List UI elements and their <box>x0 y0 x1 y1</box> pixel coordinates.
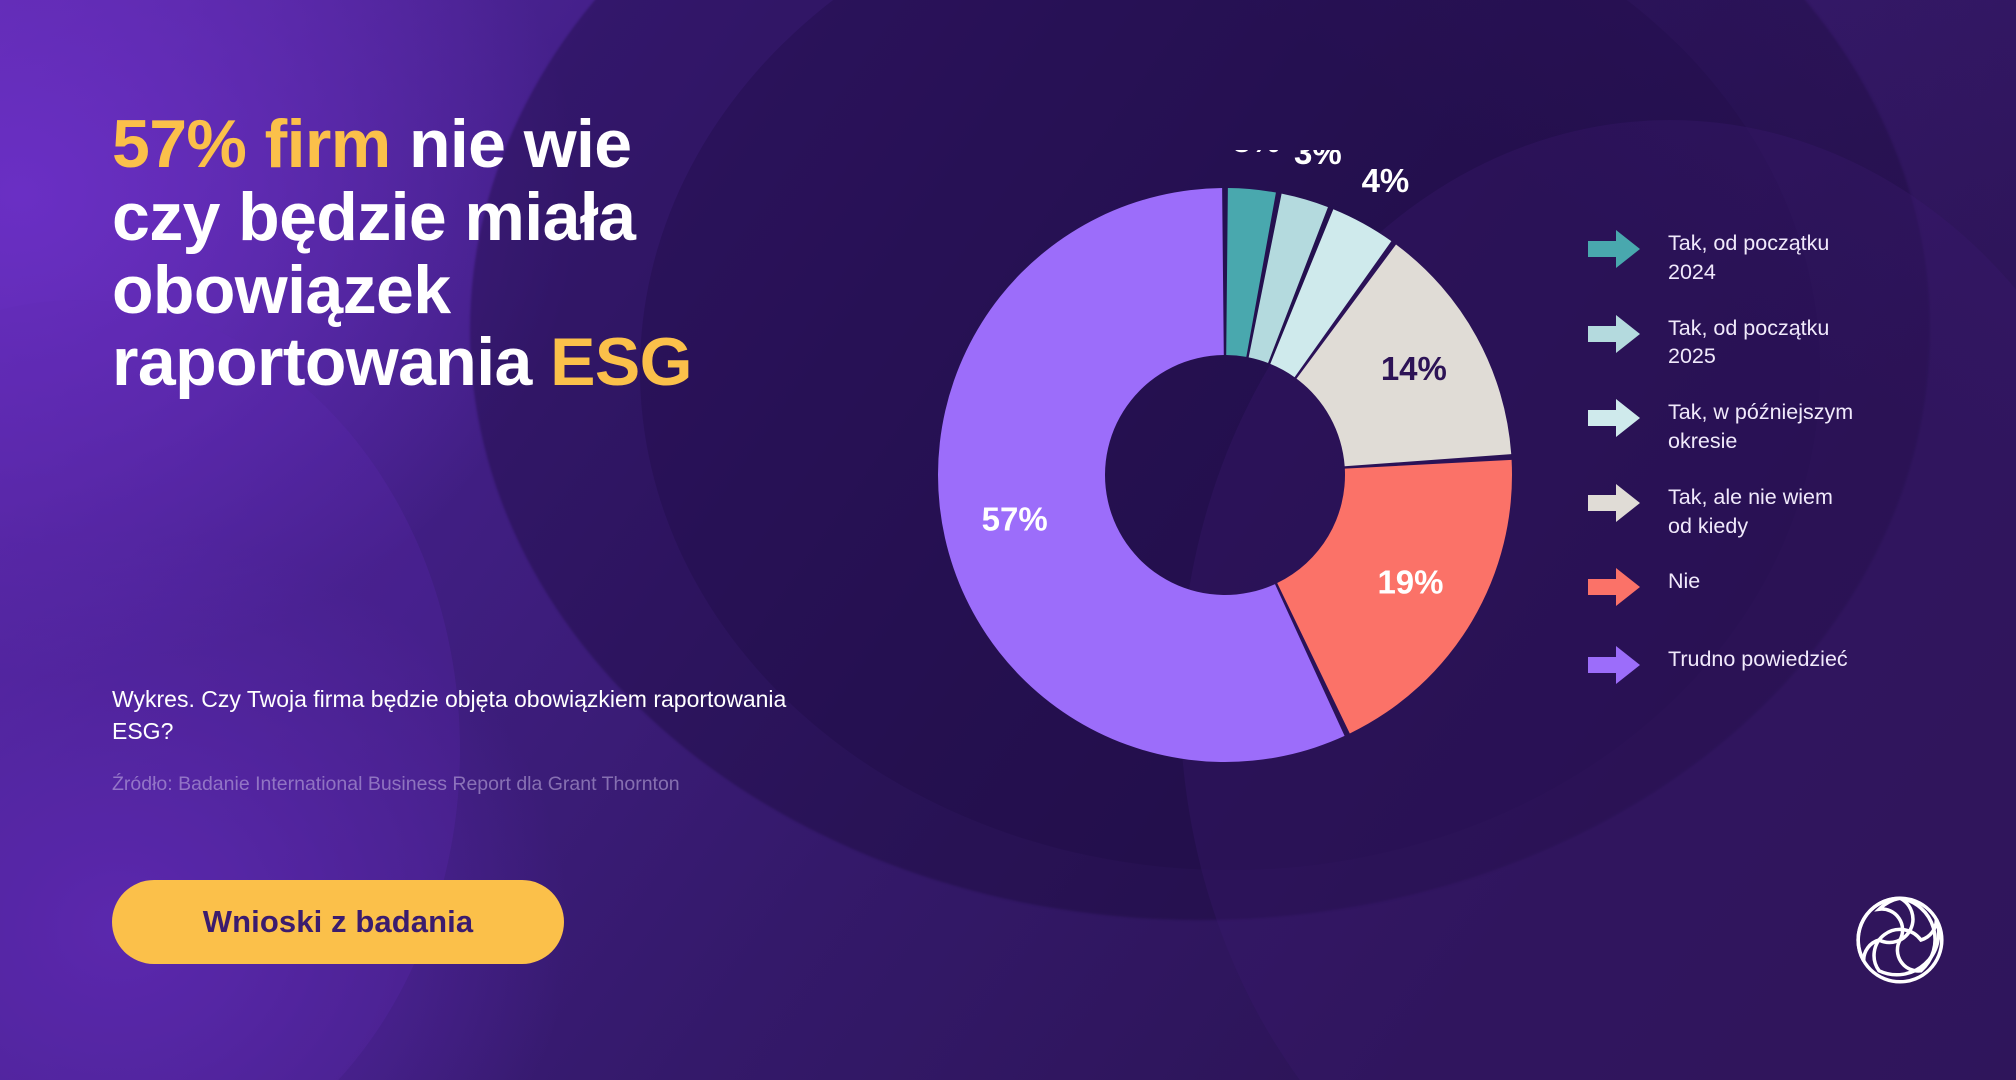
headline-line3: obowiązek <box>112 252 450 328</box>
legend-item[interactable]: Tak, ale nie wiemod kiedy <box>1588 482 1988 541</box>
legend-arrow-icon <box>1588 568 1640 606</box>
headline-highlight-stat: 57% firm <box>112 106 391 182</box>
infographic-canvas: 57% firm nie wieczy będzie miałaobowiąze… <box>0 0 2016 1080</box>
legend-item[interactable]: Nie <box>1588 566 1988 618</box>
source-note: Źródło: Badanie International Business R… <box>112 772 812 797</box>
chart-legend: Tak, od początku2024Tak, od początku2025… <box>1588 228 1988 696</box>
legend-item[interactable]: Tak, w późniejszymokresie <box>1588 397 1988 456</box>
legend-arrow-icon <box>1588 315 1640 353</box>
cta-button-wnioski-z-badania[interactable]: Wnioski z badania <box>112 880 564 964</box>
legend-arrow-icon <box>1588 399 1640 437</box>
donut-chart: 14%19%57% 3%3%4% <box>930 150 1530 790</box>
grant-thornton-swirl-logo <box>1845 885 1955 995</box>
donut-slice-value-label: 3% <box>1232 150 1280 159</box>
legend-item-label: Nie <box>1668 566 1700 596</box>
legend-item[interactable]: Tak, od początku2025 <box>1588 313 1988 372</box>
headline-line4-prefix: raportowania <box>112 324 550 400</box>
donut-slice-group <box>938 188 1512 762</box>
legend-arrow-icon <box>1588 646 1640 684</box>
legend-item[interactable]: Trudno powiedzieć <box>1588 644 1988 696</box>
legend-item-label: Trudno powiedzieć <box>1668 644 1848 674</box>
donut-slice-value-label: 57% <box>982 501 1048 538</box>
donut-slice-value-label: 3% <box>1294 150 1342 171</box>
legend-item[interactable]: Tak, od początku2024 <box>1588 228 1988 287</box>
left-content-column: 57% firm nie wieczy będzie miałaobowiąze… <box>112 0 932 1080</box>
legend-item-label: Tak, ale nie wiemod kiedy <box>1668 482 1833 541</box>
legend-item-label: Tak, w późniejszymokresie <box>1668 397 1853 456</box>
legend-item-label: Tak, od początku2025 <box>1668 313 1829 372</box>
chart-caption: Wykres. Czy Twoja firma będzie objęta ob… <box>112 684 792 747</box>
swirl-icon <box>1845 885 1955 995</box>
donut-slice-value-label: 4% <box>1362 162 1410 199</box>
headline-highlight-esg: ESG <box>550 324 692 400</box>
donut-slice-value-label: 19% <box>1377 563 1443 600</box>
donut-slice-value-label: 14% <box>1381 350 1447 387</box>
donut-chart-svg: 14%19%57% 3%3%4% <box>930 150 1530 790</box>
headline-line2: czy będzie miała <box>112 179 635 255</box>
page-title: 57% firm nie wieczy będzie miałaobowiąze… <box>112 108 872 399</box>
legend-arrow-icon <box>1588 484 1640 522</box>
legend-arrow-icon <box>1588 230 1640 268</box>
headline-rest-line1: nie wie <box>391 106 632 182</box>
legend-item-label: Tak, od początku2024 <box>1668 228 1829 287</box>
